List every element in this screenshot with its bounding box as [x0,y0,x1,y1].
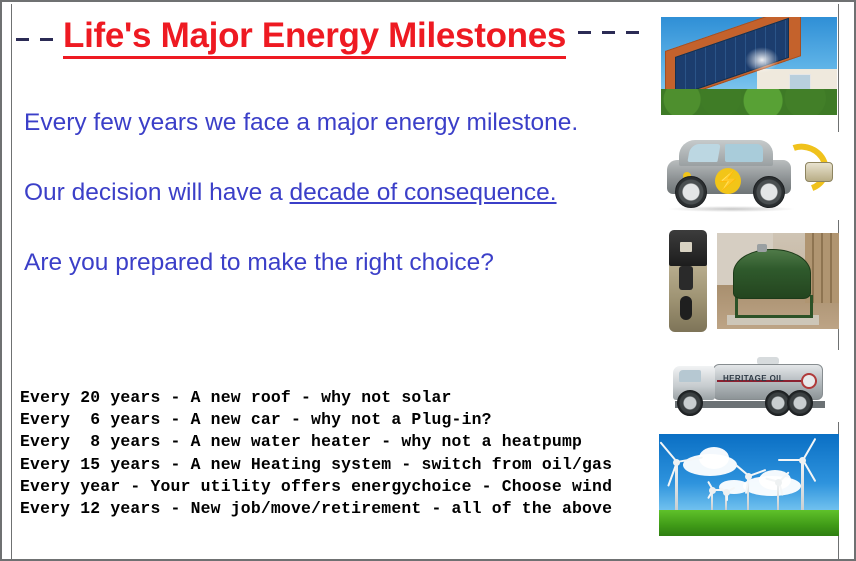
electric-car-photo: ⚡ [659,132,839,220]
tank-fill-cap [757,244,767,252]
body-line-3-text: Are you prepared to make the right choic… [24,249,494,276]
page-title: Life's Major Energy Milestones [63,18,566,59]
green-oil-drum [733,249,811,299]
cloud [699,447,729,469]
heater-front-strip [679,266,693,290]
turbine-hub [709,487,716,494]
title-dashes-left [16,38,53,41]
milestone-item: Every 8 years - A new water heater - why… [20,431,660,453]
turbine-hub [673,459,680,466]
title-dashes-right [578,31,639,34]
body-line-2-text: Our decision will have a [24,179,290,206]
slide-inner-frame-left [11,4,12,561]
dash-mark [626,31,639,34]
decade-of-consequence-emphasis: decade of consequence. [290,179,557,206]
truck-wheel [787,390,813,416]
car-wheel [675,176,707,208]
milestone-item: Every 6 years - A new car - why not a Pl… [20,409,660,431]
milestone-list: Every 20 years - A new roof - why not so… [20,387,660,520]
heat-pump-water-heater-photo [665,230,711,332]
body-line-3: Are you prepared to make the right choic… [24,250,654,277]
turbine-hub [723,489,730,496]
dash-mark [16,38,29,41]
grass-field [659,510,839,536]
turbine-mast [801,460,804,510]
truck-windshield [679,370,701,382]
turbine-hub [799,457,806,464]
dash-mark [578,31,591,34]
photo-column: ⚡ HERITAGE OI [657,2,837,561]
car-windshield [687,144,720,162]
body-line-2: Our decision will have a decade of conse… [24,180,654,207]
car-wheel [753,176,785,208]
body-line-1-text: Every few years we face a major energy m… [24,109,578,136]
milestone-item: Every 15 years - A new Heating system - … [20,454,660,476]
milestone-item: Every 12 years - New job/move/retirement… [20,498,660,520]
truck-company-label: HERITAGE OIL [723,374,797,383]
truck-logo-badge [801,373,817,389]
milestone-item: Every 20 years - A new roof - why not so… [20,387,660,409]
slide-title-row: Life's Major Energy Milestones [16,14,656,62]
milestone-item: Every year - Your utility offers energyc… [20,476,660,498]
oil-tank-photo [717,233,839,329]
heater-access-panel [680,296,692,320]
truck-wheel [677,390,703,416]
wind-turbines-photo [659,434,839,536]
dash-mark [602,31,615,34]
control-panel [680,242,692,252]
lightning-bolt-icon: ⚡ [715,168,741,194]
body-text-block: Every few years we face a major energy m… [24,110,654,277]
turbine-hub [775,479,782,486]
dash-mark [40,38,53,41]
charging-plug [805,162,833,182]
body-line-1: Every few years we face a major energy m… [24,110,654,137]
hedge-row [661,89,837,115]
presentation-slide: Life's Major Energy Milestones Every few… [0,0,856,561]
turbine-hub [745,473,752,480]
oil-delivery-truck-photo: HERITAGE OIL [661,350,839,422]
sun-glint [745,47,779,73]
solar-roof-photo [661,17,837,115]
car-side-window [725,144,763,162]
